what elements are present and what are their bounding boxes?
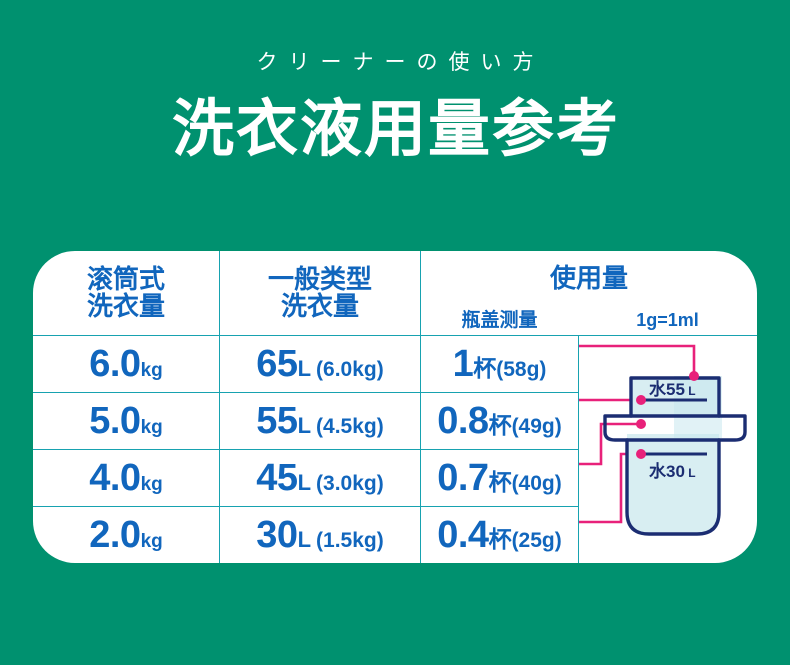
usage-paren: (25g) xyxy=(512,530,562,551)
table-header-cap-measure-label: 瓶盖测量 xyxy=(461,311,537,330)
table-row: 5.0 kg xyxy=(33,393,219,450)
general-value: 65 xyxy=(256,345,297,383)
table-row: 4.0 kg xyxy=(33,450,219,507)
drum-unit: kg xyxy=(141,418,163,437)
table-header-drum: 滚筒式 洗衣量 xyxy=(33,251,219,336)
general-paren: (3.0kg) xyxy=(316,473,384,494)
table-row: 65 L (6.0kg) xyxy=(219,336,420,393)
measuring-cup-svg: 水55 L 水30 L xyxy=(579,336,757,563)
table-row: 0.7 杯 (40g) xyxy=(420,450,578,507)
usage-unit: 杯 xyxy=(489,528,512,551)
page-title: 洗衣液用量参考 xyxy=(0,97,790,163)
drum-unit: kg xyxy=(141,361,163,380)
table-header-usage: 使用量 xyxy=(420,251,757,305)
usage-paren: (40g) xyxy=(512,473,562,494)
page-subtitle: クリーナーの使い方 xyxy=(0,52,790,73)
general-value: 55 xyxy=(256,402,297,440)
drum-value: 6.0 xyxy=(89,345,140,383)
table-row: 6.0 kg xyxy=(33,336,219,393)
usage-unit: 杯 xyxy=(473,357,496,380)
table-row: 45 L (3.0kg) xyxy=(219,450,420,507)
table-row: 30 L (1.5kg) xyxy=(219,507,420,563)
drum-value: 5.0 xyxy=(89,402,140,440)
general-value: 30 xyxy=(256,516,297,554)
table-header-usage-label: 使用量 xyxy=(550,265,628,291)
general-unit: L xyxy=(298,472,311,494)
usage-unit: 杯 xyxy=(489,414,512,437)
table-header-drum-line1: 滚筒式 xyxy=(87,266,165,293)
table-header-general: 一般类型 洗衣量 xyxy=(219,251,420,336)
usage-paren: (49g) xyxy=(512,416,562,437)
usage-unit: 杯 xyxy=(489,471,512,494)
general-paren: (1.5kg) xyxy=(316,530,384,551)
usage-value: 0.4 xyxy=(437,516,488,554)
general-value: 45 xyxy=(256,459,297,497)
table-row: 0.4 杯 (25g) xyxy=(420,507,578,563)
general-unit: L xyxy=(298,529,311,551)
usage-paren: (58g) xyxy=(496,359,546,380)
table-header-cap-measure: 瓶盖测量 xyxy=(420,305,578,336)
table-header-general-line1: 一般类型 xyxy=(268,266,372,293)
table-header-drum-line2: 洗衣量 xyxy=(87,293,165,320)
general-paren: (4.5kg) xyxy=(316,416,384,437)
general-unit: L xyxy=(298,358,311,380)
usage-value: 0.8 xyxy=(437,402,488,440)
table-row: 2.0 kg xyxy=(33,507,219,563)
drum-unit: kg xyxy=(141,532,163,551)
dosage-table-card: 滚筒式 洗衣量 一般类型 洗衣量 使用量 瓶盖测量 1g=1ml 6.0 kg xyxy=(33,251,757,563)
drum-value: 4.0 xyxy=(89,459,140,497)
table-row: 0.8 杯 (49g) xyxy=(420,393,578,450)
page-header: クリーナーの使い方 洗衣液用量参考 xyxy=(0,0,790,163)
usage-value: 0.7 xyxy=(437,459,488,497)
general-paren: (6.0kg) xyxy=(316,359,384,380)
drum-value: 2.0 xyxy=(89,516,140,554)
table-header-general-line2: 洗衣量 xyxy=(268,293,372,320)
table-row: 55 L (4.5kg) xyxy=(219,393,420,450)
conversion-note-label: 1g=1ml xyxy=(636,311,699,329)
drum-unit: kg xyxy=(141,475,163,494)
measuring-cup-diagram: 水55 L 水30 L xyxy=(578,336,757,563)
table-row: 1 杯 (58g) xyxy=(420,336,578,393)
usage-value: 1 xyxy=(453,345,474,383)
dosage-table: 滚筒式 洗衣量 一般类型 洗衣量 使用量 瓶盖测量 1g=1ml 6.0 kg xyxy=(33,251,757,563)
general-unit: L xyxy=(298,415,311,437)
table-header-conversion-note: 1g=1ml xyxy=(578,305,757,336)
